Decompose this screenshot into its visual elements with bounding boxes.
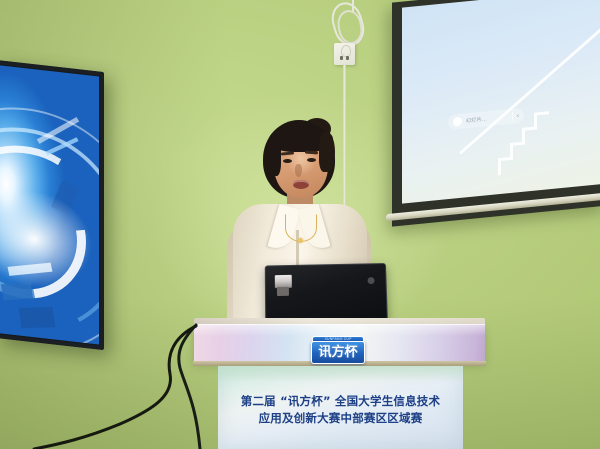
event-logo-ribbon-text: XUNFANG CUP [324, 337, 351, 341]
slide-toolbar-label: 幻灯片... [466, 113, 508, 124]
eye-right [307, 158, 316, 162]
power-socket [334, 43, 355, 65]
stage-backdrop: 第二届 “讯方杯” 全国大学生信息技术 应用及创新大赛中部赛区区域赛 [218, 366, 463, 449]
event-logo: XUNFANG CUP 讯方杯 [299, 336, 377, 360]
nose [295, 164, 302, 177]
socket-slot [346, 56, 349, 60]
event-logo-text: 讯方杯 [318, 345, 357, 360]
backdrop-title-line-2: 应用及创新大赛中部赛区区域赛 [218, 410, 463, 427]
slide-toolbar[interactable]: 幻灯片... ‹ [448, 108, 524, 130]
hair-side-left [267, 134, 281, 176]
wall-mounted-display [0, 60, 104, 350]
projector-screen-surface: 幻灯片... ‹ [402, 0, 600, 204]
round-badge-icon [367, 277, 374, 284]
backdrop-gradient [218, 366, 463, 382]
display-bezel [0, 60, 104, 350]
slide-stair-line [534, 111, 549, 129]
socket-slot [340, 56, 343, 60]
circle-icon [453, 117, 462, 127]
manufacturer-sticker-icon [277, 287, 289, 296]
mouth [293, 180, 309, 189]
backdrop-title-line-1: 第二届 “讯方杯” 全国大学生信息技术 [218, 393, 463, 410]
hair-side-right [319, 132, 335, 172]
event-logo-badge: 讯方杯 [311, 341, 364, 364]
podium-highlight [194, 324, 485, 336]
eye-left [283, 159, 292, 163]
screenshot-root: 幻灯片... ‹ [0, 0, 600, 449]
backdrop-text-block: 第二届 “讯方杯” 全国大学生信息技术 应用及创新大赛中部赛区区域赛 [218, 393, 463, 427]
divider [512, 112, 513, 121]
chevron-left-icon[interactable]: ‹ [517, 113, 519, 119]
projector-screen: 幻灯片... ‹ [392, 0, 600, 227]
necklace-pendant [298, 238, 303, 243]
